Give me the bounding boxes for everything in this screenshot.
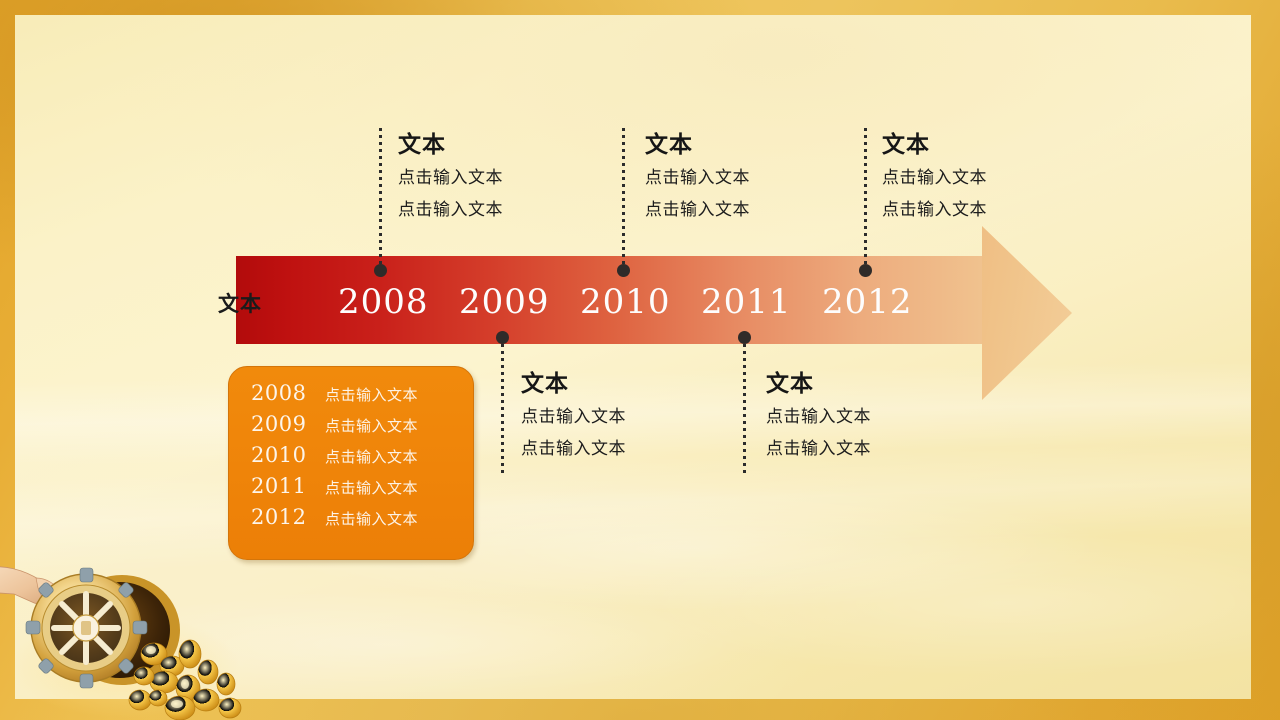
slide-canvas: 文本 2008 2009 2010 2011 2012 文本 点击输入文本 点击…: [0, 0, 1280, 720]
callout-top-2[interactable]: 文本 点击输入文本 点击输入文本: [645, 132, 750, 233]
legend-text: 点击输入文本: [325, 384, 418, 405]
year-label-2008[interactable]: 2008: [338, 282, 429, 322]
callout-line-2: 点击输入文本: [398, 201, 503, 218]
legend-row[interactable]: 2008 点击输入文本: [229, 381, 473, 412]
callout-line-1: 点击输入文本: [521, 408, 626, 425]
callout-title: 文本: [521, 371, 626, 396]
legend-year: 2009: [251, 412, 325, 436]
callout-line-1: 点击输入文本: [882, 169, 987, 186]
callout-line-2: 点击输入文本: [645, 201, 750, 218]
timeline-tail-label: 文本: [218, 288, 262, 318]
legend-row[interactable]: 2009 点击输入文本: [229, 412, 473, 443]
connector-dot-bottom-2: [738, 331, 751, 344]
callout-title: 文本: [882, 132, 987, 157]
callout-title: 文本: [645, 132, 750, 157]
callout-bottom-1[interactable]: 文本 点击输入文本 点击输入文本: [521, 371, 626, 472]
callout-bottom-2[interactable]: 文本 点击输入文本 点击输入文本: [766, 371, 871, 472]
legend-row[interactable]: 2012 点击输入文本: [229, 505, 473, 536]
callout-top-1[interactable]: 文本 点击输入文本 点击输入文本: [398, 132, 503, 233]
callout-line-2: 点击输入文本: [766, 440, 871, 457]
callout-line-1: 点击输入文本: [766, 408, 871, 425]
legend-row[interactable]: 2010 点击输入文本: [229, 443, 473, 474]
connector-line-bottom-2: [743, 337, 746, 477]
connector-line-top-3: [864, 128, 867, 270]
legend-year: 2012: [251, 505, 325, 529]
connector-line-top-2: [622, 128, 625, 270]
connector-dot-top-1: [374, 264, 387, 277]
legend-text: 点击输入文本: [325, 508, 418, 529]
connector-line-bottom-1: [501, 337, 504, 477]
legend-text: 点击输入文本: [325, 477, 418, 498]
legend-year: 2011: [251, 474, 325, 498]
connector-line-top-1: [379, 128, 382, 270]
year-label-2010[interactable]: 2010: [580, 282, 671, 322]
legend-text: 点击输入文本: [325, 415, 418, 436]
connector-dot-top-3: [859, 264, 872, 277]
callout-top-3[interactable]: 文本 点击输入文本 点击输入文本: [882, 132, 987, 233]
year-label-2012[interactable]: 2012: [822, 282, 913, 322]
legend-year: 2010: [251, 443, 325, 467]
connector-dot-top-2: [617, 264, 630, 277]
legend-panel[interactable]: 2008 点击输入文本 2009 点击输入文本 2010 点击输入文本 2011…: [228, 366, 474, 560]
legend-text: 点击输入文本: [325, 446, 418, 467]
legend-row[interactable]: 2011 点击输入文本: [229, 474, 473, 505]
connector-dot-bottom-1: [496, 331, 509, 344]
callout-line-2: 点击输入文本: [521, 440, 626, 457]
arrow-head-icon: [982, 226, 1072, 400]
year-label-2009[interactable]: 2009: [459, 282, 550, 322]
year-label-2011[interactable]: 2011: [701, 282, 792, 322]
callout-line-2: 点击输入文本: [882, 201, 987, 218]
callout-title: 文本: [766, 371, 871, 396]
callout-title: 文本: [398, 132, 503, 157]
callout-line-1: 点击输入文本: [398, 169, 503, 186]
legend-year: 2008: [251, 381, 325, 405]
callout-line-1: 点击输入文本: [645, 169, 750, 186]
